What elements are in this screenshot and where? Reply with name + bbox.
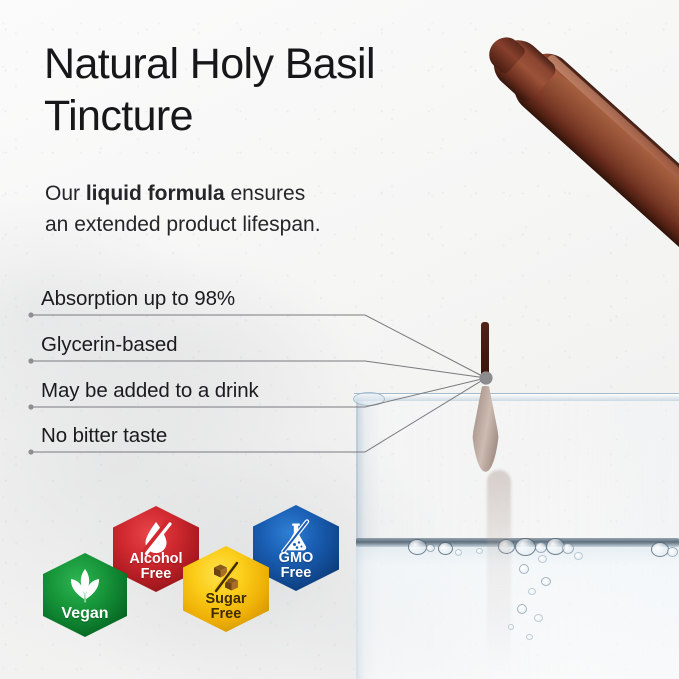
glass-rim: [354, 393, 679, 401]
glass-of-water: [352, 392, 679, 679]
bubble: [528, 588, 536, 595]
bubble: [574, 552, 583, 560]
bubble: [455, 549, 462, 556]
bubble: [541, 577, 551, 586]
feature-label-add-to-drink: May be added to a drink: [41, 379, 259, 403]
leaf-icon: [63, 566, 107, 608]
glass-rim-ellipse: [353, 392, 385, 406]
bubble: [515, 538, 536, 556]
subtitle-prefix: Our: [45, 182, 86, 205]
bubble: [517, 604, 527, 614]
bubble: [426, 544, 435, 552]
feature-label-absorption: Absorption up to 98%: [41, 287, 235, 311]
droplet-reflection: [487, 470, 511, 670]
bubble: [538, 555, 547, 563]
bubble: [667, 547, 678, 557]
page-title: Natural Holy Basil Tincture: [44, 38, 564, 142]
bubble: [476, 548, 483, 554]
bubble: [534, 614, 543, 622]
bubble: [408, 539, 427, 555]
bubble: [438, 542, 453, 555]
feature-label-no-bitter: No bitter taste: [41, 424, 167, 448]
feature-label-glycerin: Glycerin-based: [41, 333, 177, 357]
dropper-liquid-stream: [481, 322, 489, 380]
subtitle-emphasis: liquid formula: [86, 182, 225, 205]
bubble: [519, 564, 529, 574]
product-infographic: Natural Holy Basil Tincture Our liquid f…: [0, 0, 679, 679]
bubble: [526, 634, 533, 640]
page-subtitle: Our liquid formula ensures an extended p…: [45, 178, 465, 240]
bubble: [562, 543, 574, 554]
